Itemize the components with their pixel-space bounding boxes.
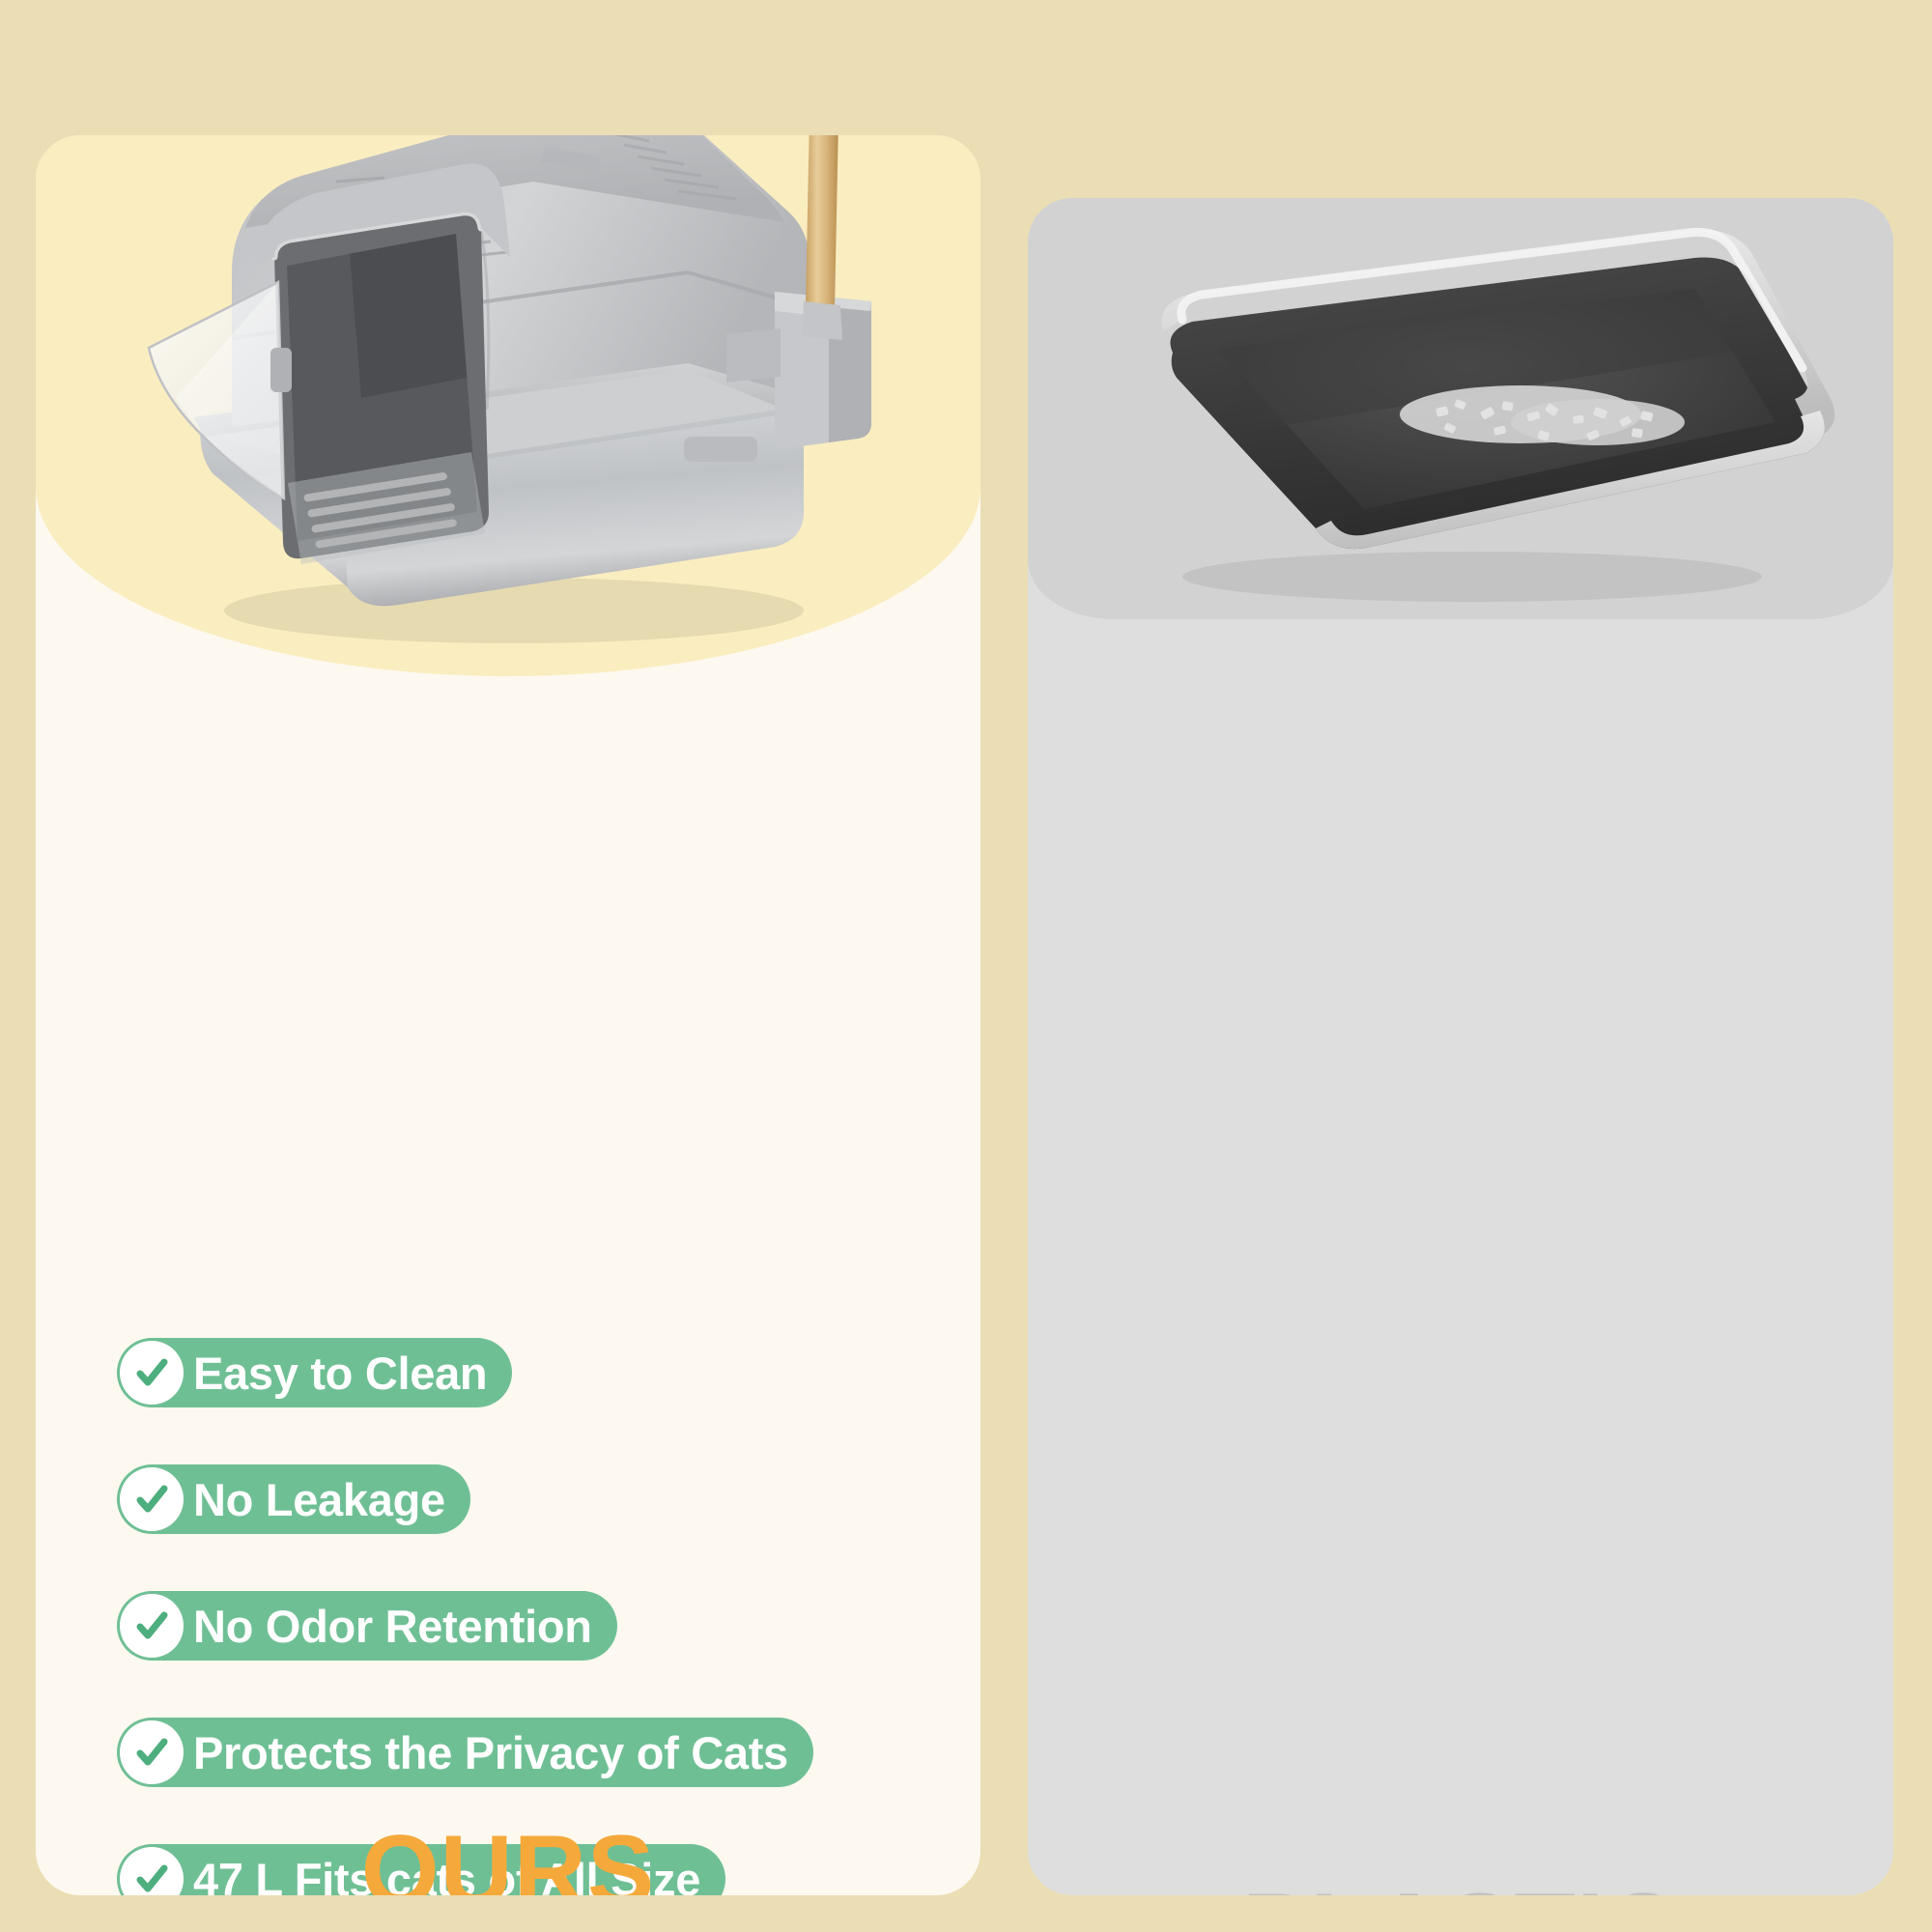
feature-item: No Odor Retention (117, 1591, 617, 1661)
check-icon (120, 1341, 184, 1405)
feature-label: No Leakage (184, 1477, 445, 1522)
comparison-board: Easy to Clean No Leakage No Odor Retenti… (0, 0, 1932, 1932)
feature-label: Protects the Privacy of Cats (184, 1730, 788, 1776)
plastic-product-image (1057, 208, 1868, 613)
feature-item: Protects the Privacy of Cats (117, 1718, 813, 1787)
check-icon (120, 1594, 184, 1658)
ours-feature-list: Easy to Clean No Leakage No Odor Retenti… (117, 1338, 813, 1895)
feature-item: Easy to Clean (117, 1338, 512, 1407)
ours-panel: Easy to Clean No Leakage No Odor Retenti… (36, 135, 980, 1895)
check-icon (120, 1720, 184, 1784)
ours-brand-label: OURS (36, 1821, 980, 1895)
check-icon (120, 1467, 184, 1531)
plastic-panel: Easy to Absorb Odors Cleaning is Bothers… (1028, 198, 1893, 1895)
feature-label: Easy to Clean (184, 1350, 487, 1396)
feature-item: No Leakage (117, 1464, 470, 1534)
feature-label: No Odor Retention (184, 1604, 592, 1649)
plastic-brand-label: PLASTIC (1028, 1879, 1893, 1895)
ours-product-image (108, 135, 900, 676)
